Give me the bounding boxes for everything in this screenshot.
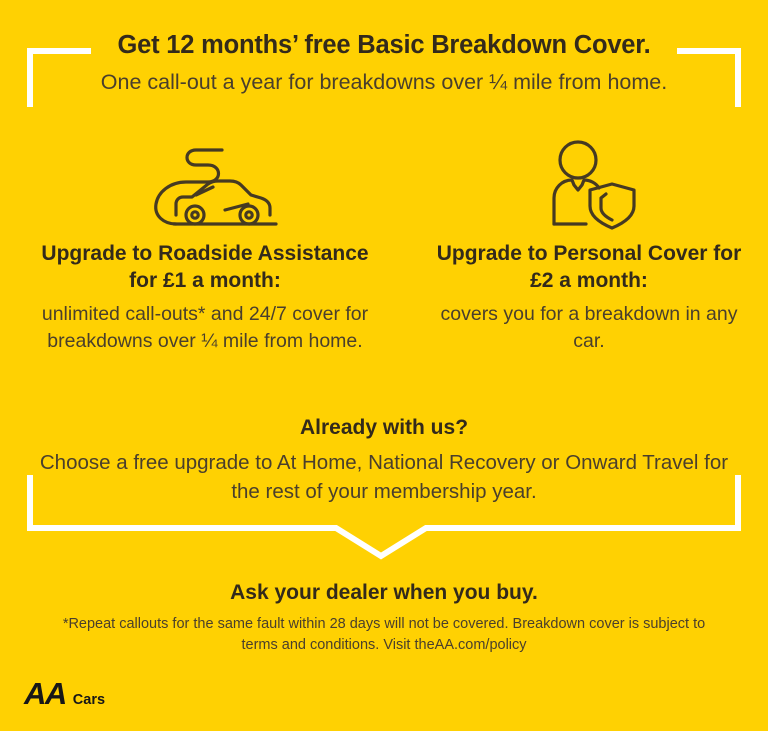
aa-logo-mark: AA (24, 678, 66, 709)
call-to-action-text: Ask your dealer when you buy. (0, 580, 768, 606)
footer: Ask your dealer when you buy. *Repeat ca… (0, 580, 768, 655)
upgrade-card-title: Upgrade to Roadside Assistance for £1 a … (40, 240, 370, 295)
upgrade-columns: Upgrade to Roadside Assistance for £1 a … (0, 132, 768, 356)
upgrade-card-title: Upgrade to Personal Cover for £2 a month… (430, 240, 748, 295)
page-subtitle: One call-out a year for breakdowns over … (0, 70, 768, 96)
promo-panel: Get 12 months’ free Basic Breakdown Cove… (0, 0, 768, 731)
person-shield-icon (430, 132, 748, 232)
already-member-body: Choose a free upgrade to At Home, Nation… (0, 449, 768, 506)
broken-down-car-icon (40, 132, 370, 232)
header: Get 12 months’ free Basic Breakdown Cove… (0, 30, 768, 95)
upgrade-card-body: covers you for a breakdown in any car. (430, 301, 748, 356)
disclaimer-text: *Repeat callouts for the same fault with… (0, 614, 768, 655)
upgrade-card-personal: Upgrade to Personal Cover for £2 a month… (410, 132, 768, 356)
already-member-title: Already with us? (0, 415, 768, 441)
page-title: Get 12 months’ free Basic Breakdown Cove… (0, 30, 768, 61)
upgrade-card-roadside: Upgrade to Roadside Assistance for £1 a … (0, 132, 410, 356)
aa-logo-word: Cars (73, 693, 105, 708)
aa-cars-logo: AA Cars (24, 678, 105, 709)
already-member-section: Already with us? Choose a free upgrade t… (0, 415, 768, 507)
upgrade-card-body: unlimited call-outs* and 24/7 cover for … (40, 301, 370, 356)
